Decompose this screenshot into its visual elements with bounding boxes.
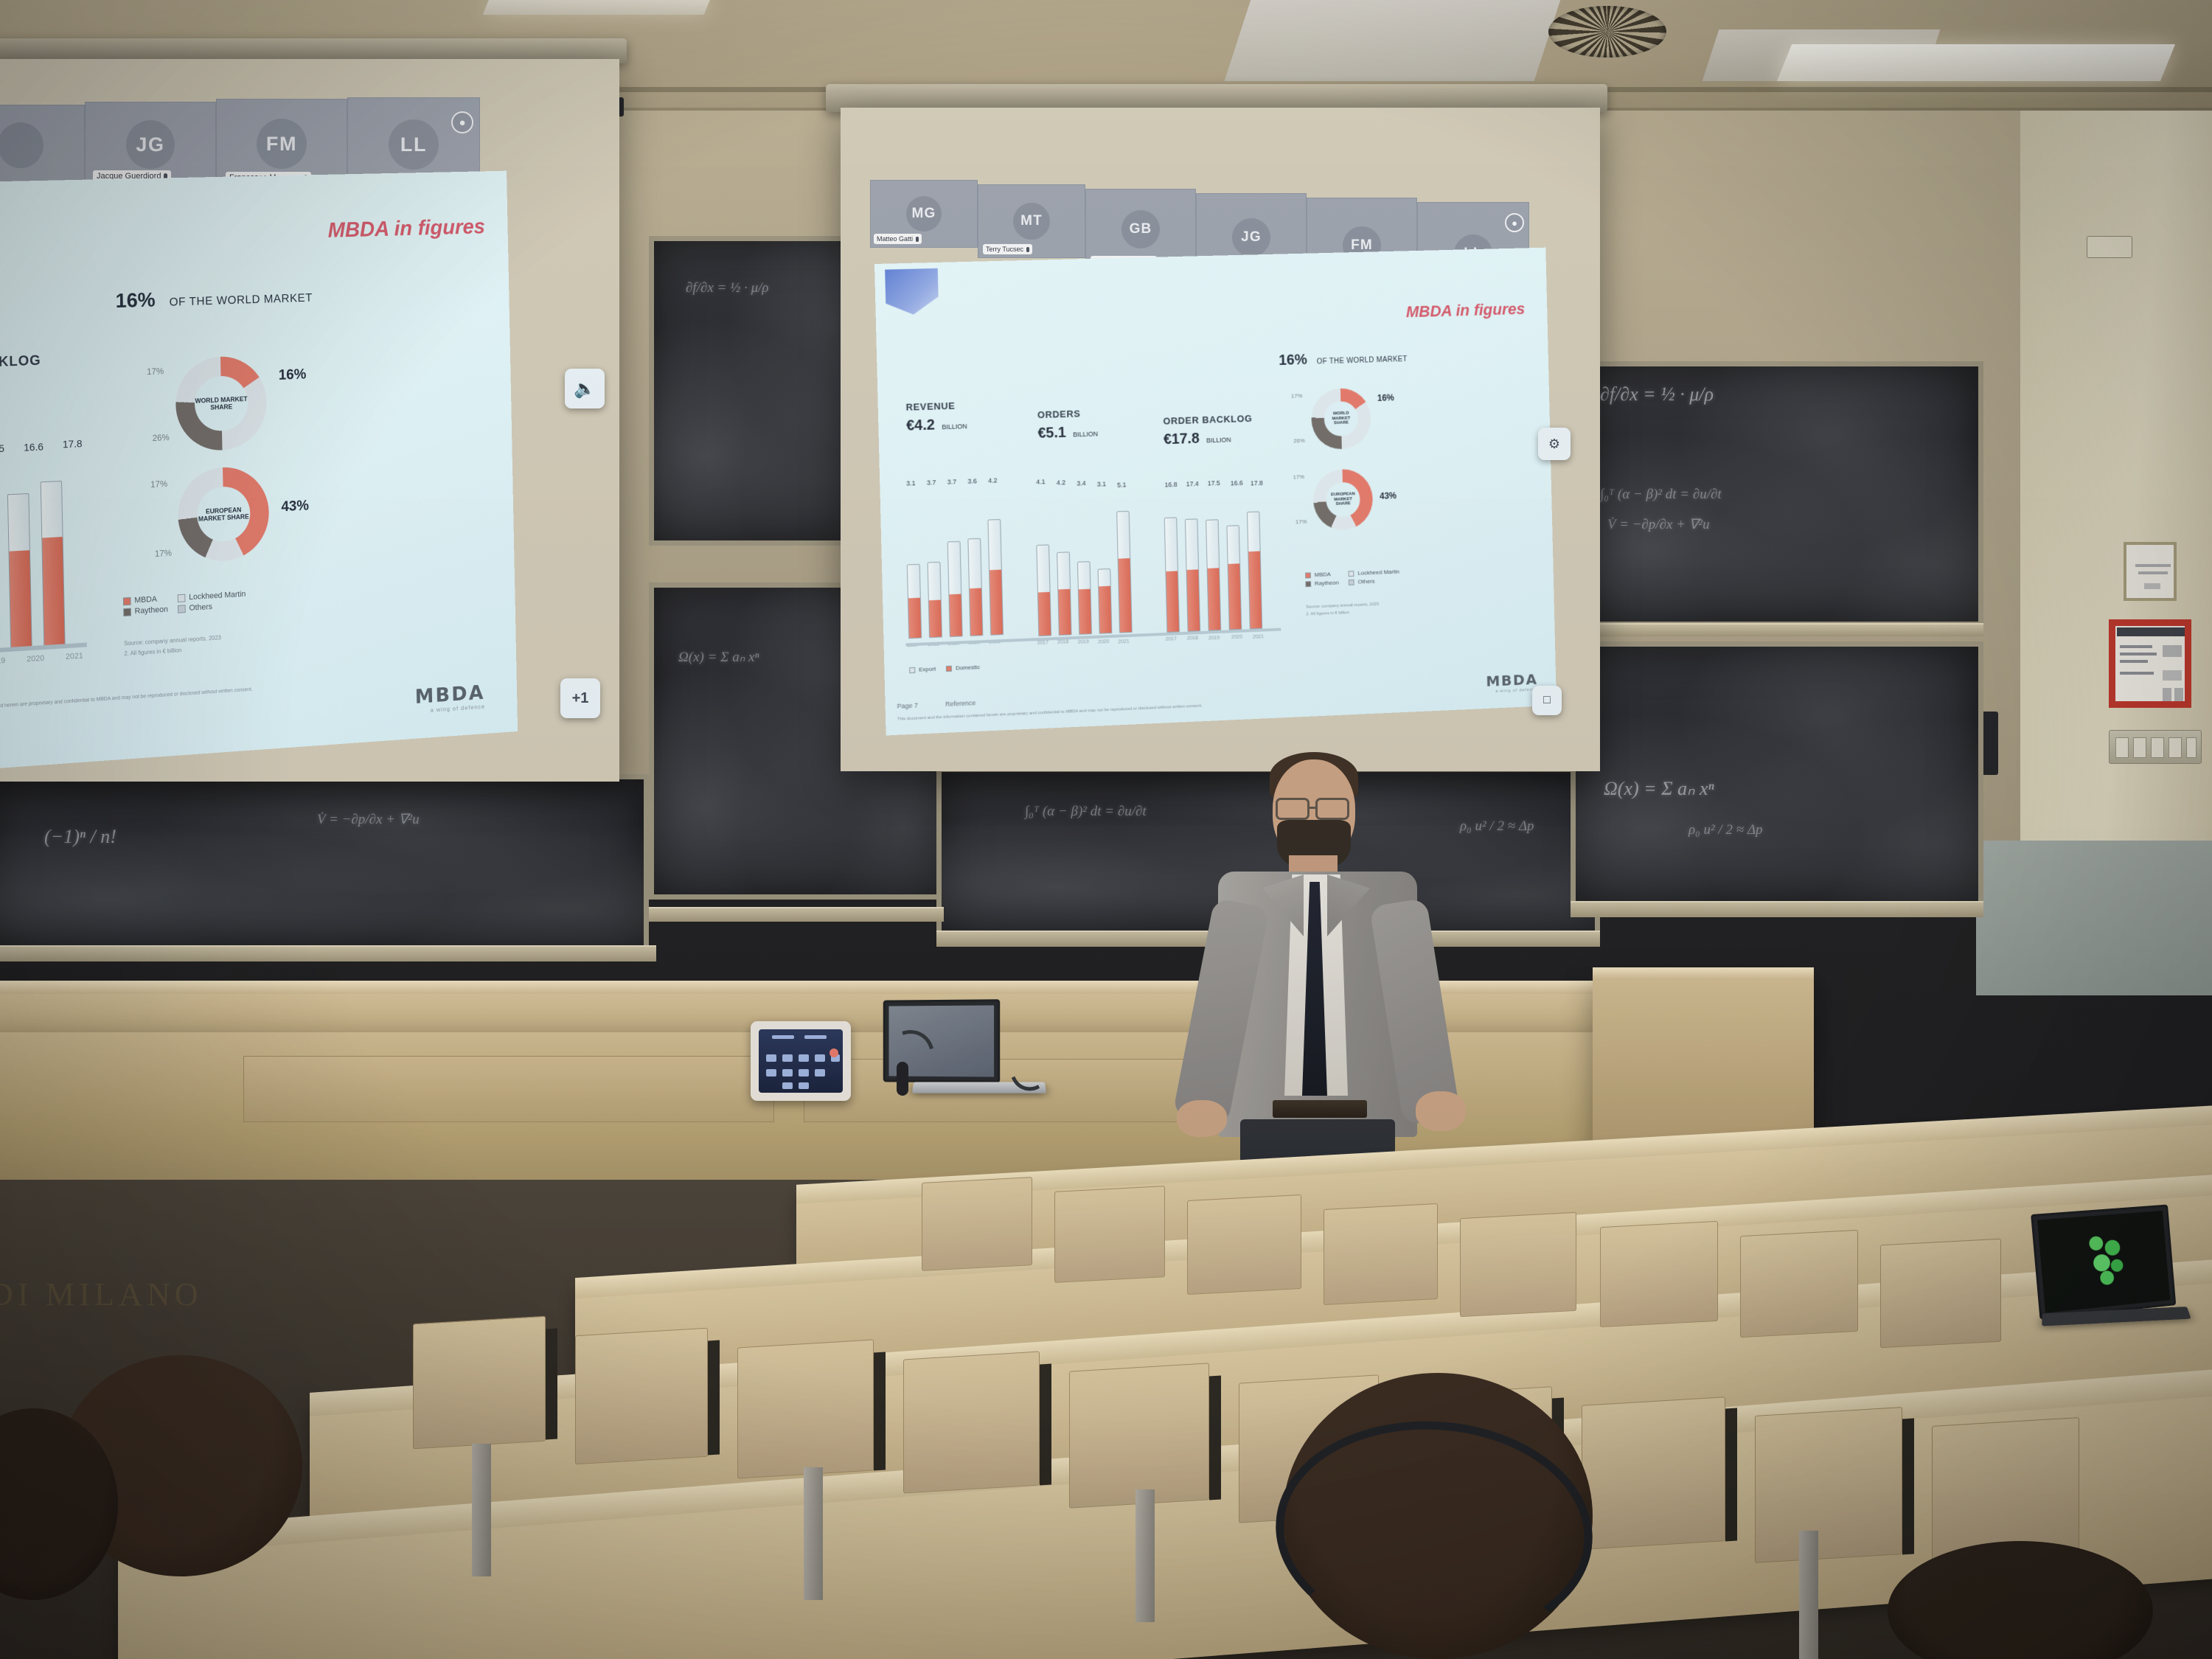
participant-tile[interactable]: ...arta (0, 105, 85, 186)
chalk-equation: ∂f/∂x = ½ · μ/ρ (686, 280, 769, 296)
bar (1098, 568, 1113, 634)
ceiling-panel (1225, 0, 1563, 81)
legend-item: MBDA (1305, 571, 1339, 579)
donut-european-market-share: EUROPEAN MARKET SHARE (1312, 468, 1373, 531)
bar-category-label: 2021 (1253, 634, 1264, 639)
legend-label: Raytheon (1315, 580, 1339, 587)
bar (7, 493, 32, 649)
donut-center-label: WORLD MARKET SHARE (1324, 401, 1358, 437)
kpi-unit: BILLION (942, 422, 967, 431)
seat-back[interactable] (737, 1340, 874, 1479)
legend-swatch (123, 608, 131, 616)
bar-fill-domestic (908, 597, 921, 638)
donut-world-market-share: WORLD MARKET SHARE (1311, 388, 1371, 451)
seat-back[interactable] (1755, 1407, 1902, 1563)
bar-chart-revenue (905, 503, 1011, 639)
bar-column (1185, 518, 1200, 631)
bar (928, 562, 942, 638)
seat-back[interactable] (575, 1328, 708, 1465)
seat-support (472, 1444, 491, 1576)
student-laptop[interactable] (2031, 1205, 2176, 1320)
bar (41, 481, 66, 647)
bar-value-label: 4.1 (1036, 478, 1046, 485)
bar-column (907, 564, 922, 639)
chalk-equation: ρ₀ u² / 2 ≈ Δp (1688, 822, 1763, 838)
avatar: LL (389, 119, 439, 170)
bar-category-label: 2017 (1037, 640, 1048, 646)
bar-chart-orders (1035, 503, 1139, 636)
bar-column (7, 493, 32, 649)
bar-value-label: 16.6 (1231, 479, 1243, 487)
slide-headline: 16% OF THE WORLD MARKET (115, 283, 313, 313)
glasses-icon (1315, 798, 1349, 820)
seat-back[interactable] (1054, 1186, 1165, 1283)
participant-tile[interactable]: MG Matteo Gatti (870, 180, 978, 248)
donut-callout-raytheon: 26% (153, 432, 170, 443)
bar-value-label: 17.5 (1208, 479, 1220, 487)
seat-back[interactable] (903, 1352, 1040, 1494)
legend-swatch (1305, 572, 1311, 578)
bar-value-label: 17.5 (0, 442, 4, 455)
seat-back[interactable] (1187, 1194, 1301, 1295)
slide-fine-print: This document and the information contai… (897, 704, 1203, 722)
wall-notice-framed (2124, 542, 2177, 601)
mbda-logo: MBDA a wing of defence (1486, 670, 1538, 694)
bar-fill-domestic (990, 570, 1003, 635)
legend-label: Export (919, 666, 936, 673)
bar-value-label: 17.4 (1186, 480, 1199, 487)
legend-bar-series: Export Domestic (909, 664, 980, 673)
podium-edge (1593, 967, 1814, 979)
legend-swatch (1305, 581, 1311, 587)
pin-icon[interactable]: ● (451, 111, 473, 133)
seat-gap (1040, 1364, 1051, 1486)
bar-fill-domestic (1038, 592, 1051, 636)
slide-page-number: Page 7 (897, 702, 918, 710)
slide-source-note: 2. All figures in € billion (1306, 611, 1349, 616)
bar-fill-domestic (1119, 558, 1132, 632)
legend-swatch (178, 594, 186, 602)
headline-rest: OF THE WORLD MARKET (1317, 355, 1408, 366)
legend-item: Export (909, 666, 936, 673)
donut-center-label: EUROPEAN MARKET SHARE (196, 486, 251, 543)
bar-value-label: 5.1 (1117, 481, 1126, 488)
slide-left: MBDA in figures 16% OF THE WORLD MARKET … (0, 171, 518, 772)
donut-center-label: EUROPEAN MARKET SHARE (1326, 481, 1360, 518)
avatar: FM (257, 119, 307, 169)
donut-world-market-share: WORLD MARKET SHARE (175, 355, 268, 453)
mic-icon (916, 237, 919, 242)
kpi-label-order-backlog: ORDER BACKLOG (1163, 413, 1252, 427)
donut-callout-mbda: 43% (1380, 490, 1397, 501)
bar-chart-order-backlog (1164, 501, 1270, 633)
slide-footer-ref: Reference (945, 699, 975, 708)
kpi-label-order-backlog: ORDER BACKLOG (0, 353, 41, 374)
student-laptop-content (2080, 1229, 2135, 1290)
emergency-light (2087, 236, 2132, 258)
donut-title: WORLD MARKET SHARE (195, 395, 248, 412)
bar-column (1036, 545, 1051, 636)
bar-fill-domestic (929, 599, 942, 637)
legend-market-share: MBDA Lockheed Martin Raytheon Others (1305, 568, 1399, 588)
chalk-equation: ∂f/∂x = ½ · μ/ρ (1600, 383, 1714, 406)
kpi-value-order-backlog: €17.8 BILLION (1164, 430, 1231, 449)
bar-category-label: 2021 (1118, 639, 1129, 645)
legend-item: Lockheed Martin (1349, 568, 1399, 577)
bar-fill-domestic (1079, 589, 1091, 634)
headline-value: 16% (115, 288, 156, 312)
headline-value: 16% (1279, 352, 1307, 369)
avatar: MT (1013, 203, 1050, 240)
seat-gap (1725, 1408, 1737, 1542)
donut-callout-lockheed: 17% (1293, 473, 1304, 480)
bar (947, 541, 963, 637)
donut-title: EUROPEAN MARKET SHARE (197, 505, 250, 523)
seat-back[interactable] (413, 1316, 546, 1450)
legend-item: Raytheon (1305, 580, 1339, 588)
legend-label: MBDA (134, 595, 157, 605)
bar-category-label: 2019 (0, 656, 5, 666)
bar-value-label: 4.2 (988, 476, 998, 484)
bar-fill-domestic (42, 538, 64, 646)
bar-column (1226, 525, 1242, 630)
bar-fill-domestic (1248, 552, 1262, 628)
bar-value-label: 3.7 (927, 479, 936, 486)
slide-source-note: Source: company annual reports, 2023 (1306, 602, 1379, 610)
bar-column (1247, 512, 1262, 630)
avatar: JG (1232, 218, 1270, 257)
donut-title: EUROPEAN MARKET SHARE (1326, 492, 1360, 508)
ceiling-light (483, 0, 712, 15)
chalkboard-right-lower (1571, 641, 1983, 907)
bar-chart-order-backlog (0, 470, 77, 655)
kpi-unit: BILLION (1073, 430, 1098, 438)
avatar: JG (126, 120, 175, 169)
legend-label: Others (189, 602, 212, 613)
legend-swatch (178, 605, 186, 613)
bar-column (1116, 511, 1133, 633)
slide-source-note: 2. All figures in € billion (124, 647, 181, 657)
glasses-bridge (1310, 807, 1315, 809)
bar-category-label: 2020 (27, 654, 44, 664)
presenter-hand-right (1416, 1091, 1466, 1131)
right-wall-wainscot (1976, 841, 2212, 995)
chalk-rail (1571, 623, 1983, 636)
donut-callout-mbda: 16% (1377, 392, 1394, 403)
donut-callout-raytheon: 17% (155, 548, 172, 559)
bar (1185, 518, 1200, 631)
donut-center-label: WORLD MARKET SHARE (194, 375, 248, 432)
legend-swatch (1349, 571, 1354, 577)
more-options-button-right[interactable]: ⚙ (1538, 428, 1571, 460)
legend-swatch (123, 597, 131, 605)
bar-value-label: 16.6 (24, 441, 44, 453)
legend-label: Lockheed Martin (189, 590, 246, 602)
bar (967, 538, 983, 636)
chalk-equation: ∫₀ᵀ (α − β)² dt = ∂u/∂t (1025, 804, 1147, 820)
slide-right: MBDA in figures 16% OF THE WORLD MARKET … (874, 248, 1557, 736)
legend-label: Lockheed Martin (1357, 568, 1399, 577)
chalk-rail (0, 945, 656, 961)
bar (1206, 519, 1221, 630)
donut-european-market-share: EUROPEAN MARKET SHARE (177, 465, 270, 563)
chalk-equation: ∫₀ᵀ (α − β)² dt = ∂u/∂t (1600, 487, 1722, 503)
bar-value-label: 4.2 (1057, 479, 1066, 486)
bar-value-label: 3.7 (947, 478, 957, 485)
student-laptop-screen[interactable] (2037, 1211, 2170, 1313)
donut-callout-mbda: 43% (281, 498, 309, 515)
bar-column (947, 541, 963, 637)
legend-label: Raytheon (135, 605, 168, 616)
bar-value-label: 3.6 (967, 477, 977, 484)
bar (1226, 525, 1242, 630)
participant-nametag: Terry Tucsec (983, 244, 1032, 254)
slide-headline: 16% OF THE WORLD MARKET (1279, 349, 1408, 369)
presenter-hand-left (1177, 1100, 1227, 1137)
mbda-wordmark: MBDA (1486, 670, 1538, 689)
bar-category-label: 2017 (1166, 636, 1177, 642)
bar (1247, 512, 1262, 630)
bar (907, 564, 922, 639)
bar-value-label: 3.1 (1097, 480, 1106, 487)
legend-item: Others (178, 601, 246, 613)
bar-column (967, 538, 983, 636)
ceiling-vent (1548, 6, 1666, 58)
chalk-equation: (−1)ⁿ / n! (44, 826, 116, 848)
slide-title: MBDA in figures (327, 215, 485, 243)
mic-icon (1026, 247, 1029, 252)
bar-column (1077, 561, 1092, 634)
mbda-logo: MBDA a wing of defence (414, 681, 485, 715)
bar-fill-domestic (970, 588, 982, 636)
donut-callout-lockheed: 17% (147, 366, 164, 377)
bar-value-label: 17.8 (63, 437, 83, 450)
bar-category-label: 2020 (1231, 635, 1242, 641)
participant-name: Terry Tucsec (986, 246, 1023, 253)
bar (1164, 517, 1180, 633)
legend-swatch (909, 667, 915, 672)
headline-rest: OF THE WORLD MARKET (169, 292, 313, 309)
legend-swatch (946, 665, 952, 671)
kpi-unit: BILLION (1206, 436, 1231, 444)
seat-gap (1902, 1419, 1914, 1555)
slide-corner-logo (885, 268, 939, 316)
seat-support (1799, 1531, 1818, 1659)
legend-item: Others (1349, 577, 1399, 585)
chalk-rail (1571, 901, 1983, 917)
avatar: GB (1121, 210, 1160, 248)
seat-back[interactable] (1460, 1212, 1576, 1317)
overflow-participants-badge-left[interactable]: +1 (560, 678, 600, 718)
expand-button-right[interactable]: □ (1532, 686, 1562, 715)
donut-callout-lockheed: 17% (150, 479, 167, 490)
slide-title: MBDA in figures (1406, 299, 1526, 321)
wall-notice-emergency (2109, 619, 2191, 708)
av-control-tablet[interactable] (751, 1021, 851, 1101)
seat-gap (546, 1329, 557, 1440)
bar (1116, 511, 1133, 633)
seat-back[interactable] (1600, 1221, 1718, 1327)
bar-fill-domestic (10, 550, 32, 647)
legend-label: Domestic (956, 664, 980, 671)
seat-back[interactable] (1880, 1239, 2001, 1349)
bar-column (928, 562, 942, 638)
legend-market-share: MBDA Lockheed Martin Raytheon Others (123, 590, 246, 616)
bar (1077, 561, 1092, 634)
seat-gap (874, 1352, 886, 1471)
donut-callout-raytheon: 17% (1295, 518, 1307, 525)
bar-fill-domestic (1187, 569, 1200, 630)
avatar: MG (906, 196, 942, 232)
bar-category-label: 2018 (1057, 639, 1068, 645)
seat-back[interactable] (1582, 1397, 1725, 1550)
chalk-equation: Ω(x) = Σ aₙ xⁿ (678, 649, 759, 666)
seat-support (804, 1467, 823, 1600)
seat-support (1135, 1489, 1155, 1622)
bar-category-label: 2021 (66, 652, 83, 661)
slide-fine-print: This document and the information contai… (0, 687, 253, 715)
desk-panel (243, 1056, 774, 1122)
seat-back[interactable] (922, 1177, 1032, 1271)
bar-fill-domestic (1166, 571, 1179, 632)
kpi-number: €4.2 (906, 417, 935, 434)
donut-callout-mbda: 16% (279, 366, 307, 384)
bar-fill-domestic (949, 594, 961, 636)
participant-tile[interactable]: JG Jacque Guerdjord (85, 102, 216, 187)
bar-value-label: 17.8 (1251, 479, 1263, 487)
desk-microphone[interactable] (897, 1062, 908, 1096)
bar-column (1164, 517, 1180, 633)
donut-title: WORLD MARKET SHARE (1324, 411, 1358, 427)
wall-switch-panel[interactable] (2109, 730, 2202, 764)
bar-fill-domestic (1058, 589, 1071, 635)
donut-callout-raytheon: 26% (1293, 437, 1305, 444)
video-call-surface-left: ...arta JG Jacque Guerdjord FM Francesco… (0, 65, 612, 773)
bar-value-label: 3.4 (1077, 479, 1085, 487)
bar-category-label: 2019 (1078, 639, 1089, 645)
seat-back[interactable] (1069, 1363, 1209, 1508)
slide-source-note: Source: company annual reports, 2023 (124, 634, 221, 647)
lecture-hall-scene: ∂f/∂x = ½ · μ/ρ ∫₀ᵀ (α − β)² dt = ∂u/∂t … (0, 0, 2212, 1659)
chalk-equation: V̇ = −∂p/∂x + ∇²u (1607, 516, 1710, 533)
bar-column (1098, 568, 1113, 634)
bar-fill-domestic (1208, 568, 1220, 630)
avatar (0, 122, 44, 168)
bar (987, 519, 1004, 636)
kpi-number: €5.1 (1037, 425, 1066, 442)
av-control-screen[interactable] (759, 1029, 843, 1093)
legend-item: Domestic (946, 664, 980, 672)
pin-icon[interactable]: ● (1505, 213, 1524, 232)
chalk-equation: V̇ = −∂p/∂x + ∇²u (317, 811, 420, 828)
seat-back[interactable] (1740, 1230, 1858, 1338)
legend-label: MBDA (1315, 571, 1331, 578)
video-call-surface-right: MG Matteo Gatti MT Terry Tucsec GB Giova… (841, 111, 1600, 774)
seat-gap (708, 1340, 720, 1455)
chalk-equation: Ω(x) = Σ aₙ xⁿ (1604, 778, 1714, 800)
speaker-icon-button-left[interactable]: 🔈 (565, 369, 605, 408)
legend-swatch (1349, 579, 1354, 585)
legend-item: MBDA (123, 594, 168, 605)
bar-value-label: 3.1 (906, 479, 916, 487)
participant-nametag: Matteo Gatti (874, 234, 922, 244)
legend-label: Others (1358, 578, 1375, 585)
bar-column (1057, 552, 1071, 636)
bar-value-label: 16.8 (1164, 481, 1177, 488)
seat-back[interactable] (1324, 1203, 1438, 1305)
kpi-value-orders: €5.1 BILLION (1037, 423, 1098, 442)
presenter-belt (1273, 1100, 1367, 1118)
legend-item: Raytheon (123, 605, 168, 616)
chalk-rail (649, 907, 944, 922)
bar (1036, 545, 1051, 636)
kpi-label-revenue: REVENUE (905, 400, 955, 413)
glasses-icon (1276, 798, 1310, 820)
kpi-number: €17.8 (1164, 431, 1200, 448)
donut-callout-lockheed: 17% (1291, 392, 1303, 399)
bar-fill-domestic (1099, 585, 1111, 633)
kpi-label-orders: ORDERS (1037, 408, 1081, 420)
bar-column (41, 481, 66, 647)
kpi-value-revenue: €4.2 BILLION (906, 416, 967, 435)
venue-engraving: DI MILANO (0, 1276, 203, 1313)
participant-name: Matteo Gatti (877, 235, 913, 243)
bar-fill-domestic (1228, 564, 1242, 630)
ceiling-light (1777, 44, 2175, 81)
bar-category-label: 2019 (1208, 636, 1220, 641)
bar-category-label: 2018 (1187, 636, 1198, 641)
bar (1057, 552, 1071, 636)
seat-gap (1209, 1376, 1221, 1500)
bar-category-label: 2020 (1098, 639, 1109, 645)
bar-column (1206, 519, 1221, 630)
participant-tile[interactable]: MT Terry Tucsec (978, 184, 1085, 258)
bar-column (987, 519, 1004, 636)
chalkboard-left (0, 774, 649, 951)
